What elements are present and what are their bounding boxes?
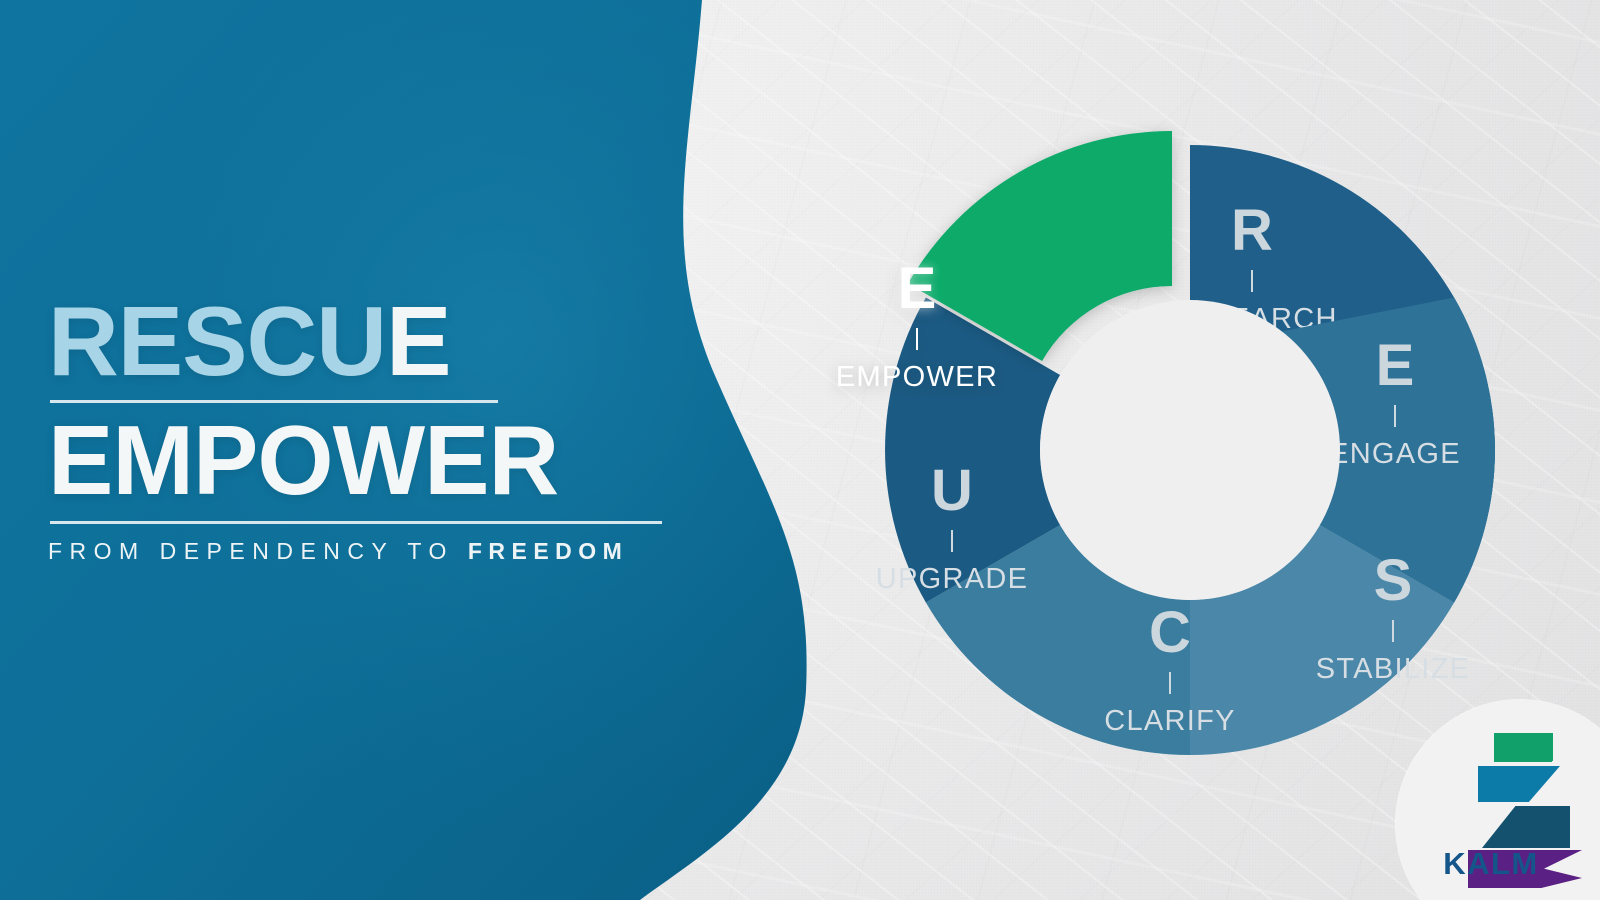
headline-rescue: RESCUE <box>48 296 688 386</box>
segment-label-empower: EMPOWER <box>836 361 998 393</box>
logo-shape-blue <box>1478 766 1560 802</box>
segment-label-engage: ENGAGE <box>1329 438 1461 470</box>
segment-letter-e-empower: E <box>898 256 937 321</box>
segment-letter-u: U <box>931 458 973 523</box>
segment-letter-r: R <box>1231 198 1273 263</box>
headline-rescue-tail: E <box>386 286 450 396</box>
segment-label-clarify: CLARIFY <box>1104 705 1236 737</box>
headline-divider-top <box>50 400 498 403</box>
segment-letter-s: S <box>1374 548 1413 613</box>
donut-center-hole <box>1040 300 1340 600</box>
headline-block: RESCUE EMPOWER FROM DEPENDENCY TO FREEDO… <box>48 296 688 565</box>
segment-label-stabilize: STABILIZE <box>1316 653 1471 685</box>
segment-letter-e-engage: E <box>1376 333 1415 398</box>
headline-rescue-light: RESCU <box>48 286 386 396</box>
kalm-logo-text: KALM <box>1396 846 1586 882</box>
subtitle-emphasis: FREEDOM <box>468 538 629 564</box>
headline-subtitle: FROM DEPENDENCY TO FREEDOM <box>48 538 688 565</box>
logo-shape-navy <box>1482 806 1570 848</box>
poster-canvas: RESCUE EMPOWER FROM DEPENDENCY TO FREEDO… <box>0 0 1600 900</box>
subtitle-prefix: FROM DEPENDENCY TO <box>48 538 468 564</box>
segment-letter-c: C <box>1149 600 1191 665</box>
headline-divider-bottom <box>50 521 662 524</box>
headline-empower: EMPOWER <box>48 415 688 505</box>
segment-label-upgrade: UPGRADE <box>876 563 1029 595</box>
